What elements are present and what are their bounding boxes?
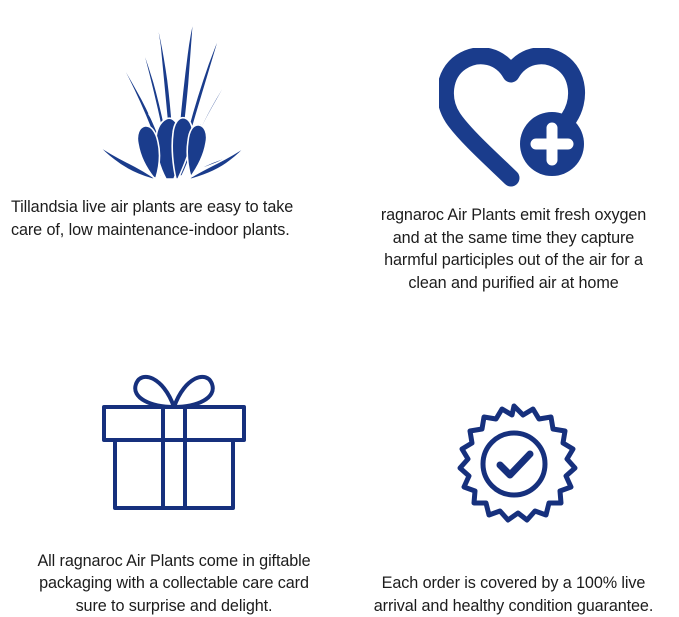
heart-plus-icon (439, 48, 589, 188)
gift-box-icon-wrap (0, 310, 348, 512)
heart-plus-icon-wrap (348, 0, 679, 188)
feature-grid: Tillandsia live air plants are easy to t… (0, 0, 679, 617)
feature-caption-fresh-oxygen: ragnaroc Air Plants emit fresh oxygen an… (353, 204, 675, 294)
feature-caption-live-arrival-guarantee: Each order is covered by a 100% live arr… (353, 572, 675, 617)
air-plant-icon (86, 12, 262, 180)
guarantee-badge-icon-wrap (348, 310, 679, 530)
feature-cell-air-plant-care: Tillandsia live air plants are easy to t… (0, 0, 348, 310)
feature-cell-fresh-oxygen: ragnaroc Air Plants emit fresh oxygen an… (348, 0, 679, 310)
air-plant-icon-wrap (0, 0, 348, 180)
feature-cell-live-arrival-guarantee: Each order is covered by a 100% live arr… (348, 310, 679, 617)
feature-caption-air-plant-care: Tillandsia live air plants are easy to t… (6, 196, 342, 241)
gift-box-icon (93, 366, 255, 512)
feature-cell-giftable-packaging: All ragnaroc Air Plants come in giftable… (0, 310, 348, 617)
feature-caption-giftable-packaging: All ragnaroc Air Plants come in giftable… (9, 550, 339, 617)
guarantee-badge-icon (447, 400, 581, 530)
